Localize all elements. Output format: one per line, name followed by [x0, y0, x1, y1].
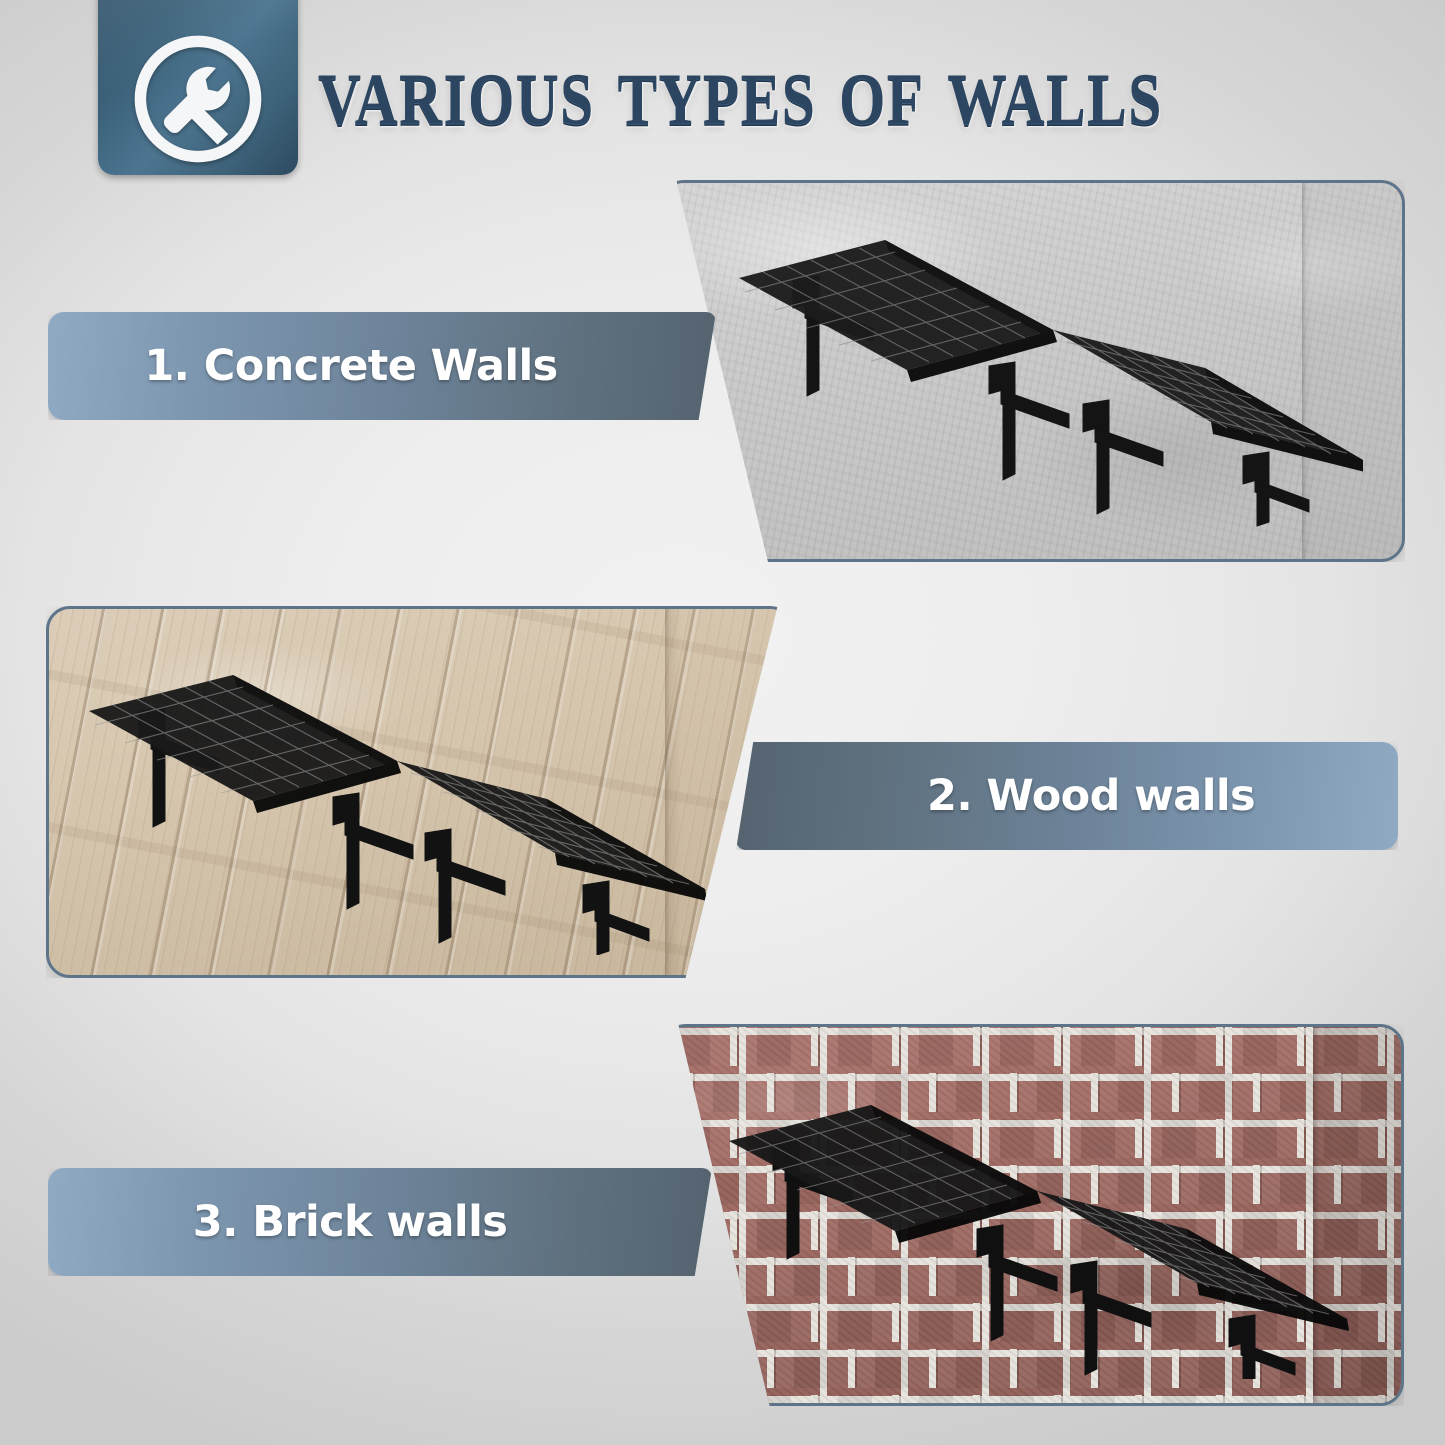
- concrete-wall-corner-seam: [1302, 183, 1402, 559]
- poster-canvas: Various Types of Walls: [0, 0, 1445, 1445]
- poster-header: Various Types of Walls: [0, 0, 1445, 190]
- brick-wall-corner-seam: [1313, 1027, 1401, 1403]
- section-label-concrete: 1. Concrete Walls: [48, 341, 716, 391]
- section-label-brick: 3. Brick walls: [48, 1197, 712, 1247]
- wrench-badge: [98, 0, 298, 175]
- section-banner-wood[interactable]: 2. Wood walls: [736, 742, 1398, 850]
- photo-panel-brick: [662, 1024, 1404, 1406]
- photo-panel-concrete: [660, 180, 1405, 562]
- brick-wall-texture: [665, 1027, 1401, 1403]
- section-banner-brick[interactable]: 3. Brick walls: [48, 1168, 712, 1276]
- wrench-in-circle-icon: [126, 27, 270, 171]
- section-label-wood: 2. Wood walls: [736, 771, 1398, 821]
- photo-panel-wood: [46, 606, 794, 978]
- concrete-wall-texture: [663, 183, 1402, 559]
- page-title: Various Types of Walls: [318, 22, 1397, 154]
- section-banner-concrete[interactable]: 1. Concrete Walls: [48, 312, 716, 420]
- brick-shading-overlay: [665, 1027, 1401, 1403]
